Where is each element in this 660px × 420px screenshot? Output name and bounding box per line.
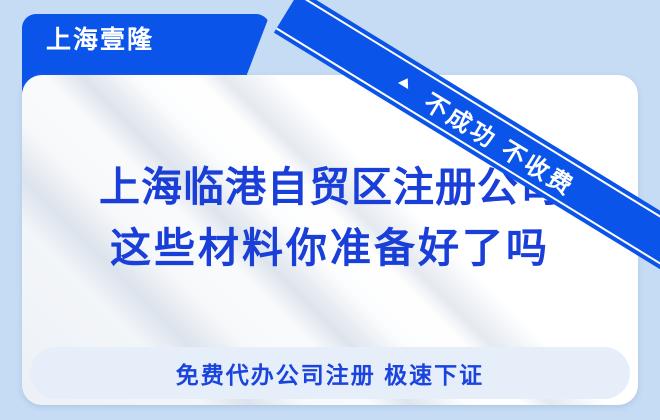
promo-banner: 上海临港自贸区注册公司 这些材料你准备好了吗 上海壹隆 不成功 不收费 免费代办… [0,0,660,420]
cta-pill-label: 免费代办公司注册 极速下证 [176,356,484,390]
triangle-up-icon [398,75,413,89]
cta-pill[interactable]: 免费代办公司注册 极速下证 [30,347,630,399]
brand-tab-label: 上海壹隆 [46,25,226,55]
headline-line-2: 这些材料你准备好了吗 [22,218,638,279]
